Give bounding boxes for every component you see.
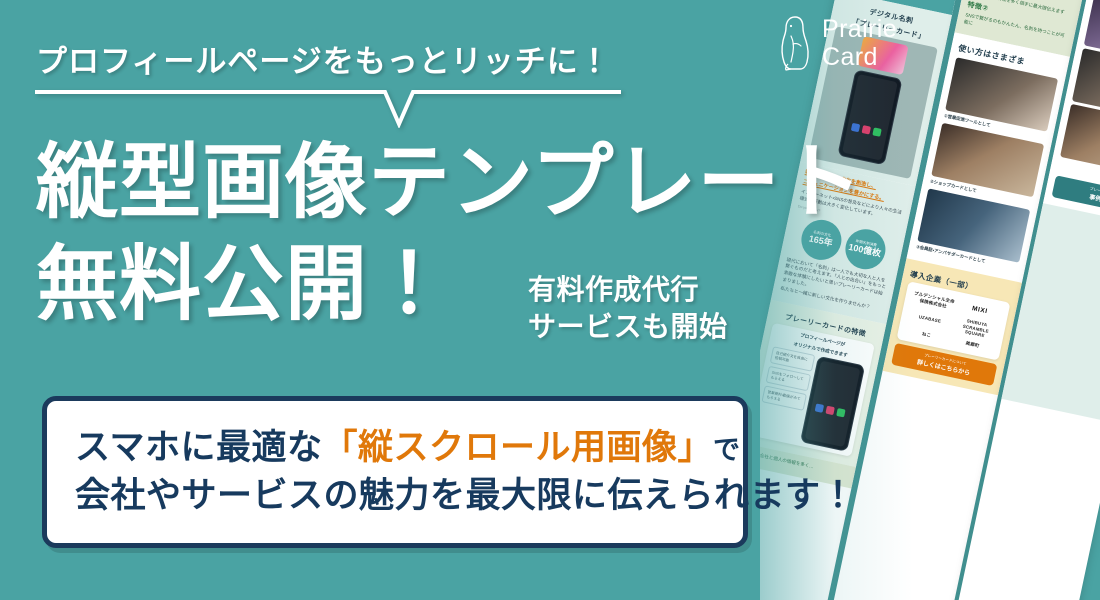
app-icon-3 [872,128,881,137]
hero-headline-line2: 無料公開！ [36,244,451,326]
collage-b-features: 特徴① 会社と個人の情報を多く相手に最大限伝えます 特徴② SNSで繋がるのもか… [954,0,1083,57]
gallery-photo-2 [1084,0,1100,67]
client-logo-0: プルデンシャル生命保険株式会社 [912,291,956,311]
gallery-photo-1 [1096,0,1100,11]
collage-c-cta-small: プレーリーカードの [1057,180,1100,205]
collage-c-cta-wrap: プレーリーカードの 事例を見る [1043,164,1100,228]
brand-name: Prairie Card [822,15,897,71]
collage-c-gallery [1051,0,1100,189]
collage-c-cta-large: 事例を見る [1055,185,1100,214]
callout-line1-prefix: スマホに最適な [75,428,322,467]
collage-b-usage-2: ②ショップカードとして [929,178,1032,205]
usage-photo-1 [945,57,1058,131]
template-card-column-b: SNSをフォローしてもらえる 営業資料・動画がみてもらえる 特徴① 会社と個人の… [825,0,1092,600]
collage-b-clients-card: プルデンシャル生命保険株式会社 MIXI UZABASE SHIBUYA SCR… [896,282,1010,361]
prairie-dog-icon [778,14,812,72]
callout-line-2: 会社やサービスの魅力を最大限に伝えられます！ [75,472,715,520]
client-logo-grid: プルデンシャル生命保険株式会社 MIXI UZABASE SHIBUYA SCR… [902,287,1005,356]
collage-c-cta-button[interactable]: プレーリーカードの 事例を見る [1051,176,1100,219]
client-logo-3: SHIBUYA SCRAMBLE SQUARE [953,316,998,341]
collage-b-feature-1-body: 会社と個人の情報を多く相手に最大限伝えます [969,0,1072,18]
collage-b-usage-1: ①営業促進ツールとして [943,113,1046,140]
callout-line-1: スマホに最適な「縦スクロール用画像」で [75,424,715,472]
client-logo-1: MIXI [971,305,988,316]
usage-photo-3 [917,188,1030,262]
collage-b-cta-button[interactable]: プレーリーカードについて 詳しくはこちらから [891,343,997,386]
hero-content: プロフィールページをもっとリッチに！ 縦型画像テンプレート 無料公開！ 有料作成… [0,0,860,600]
callout-line1-highlight: 「縦スクロール用画像」 [322,428,713,467]
collage-c-filler [1001,203,1100,423]
collage-b-feature-2-body: SNSで繋がるのもかんたん、名刺を持つことが可能に [963,12,1067,47]
collage-b-clients: 導入企業（一部） プルデンシャル生命保険株式会社 MIXI UZABASE SH… [883,258,1022,396]
hero-headline-line1: 縦型画像テンプレート [36,142,864,224]
collage-b-usage-title: 使い方はさまざま [957,44,1061,76]
promo-banner: Card プレーリーカード デジタル名刺 「プレーリーカード」 新しい出会 [0,0,1100,600]
collage-b-usage: 使い方はさまざま ①営業促進ツールとして ②ショップカードとして ③会員証・アン… [907,33,1070,283]
collage-a-brand-sub: プレーリーカード [845,0,948,5]
kicker-underline-pointer [33,86,623,128]
client-logo-5: 美郷町 [965,340,980,348]
client-logo-2: UZABASE [918,314,941,324]
brand-logo: Prairie Card [778,14,897,72]
brand-name-line1: Prairie [822,15,897,43]
hero-subnote: 有料作成代行 サービスも開始 [528,272,728,346]
gallery-photo-3 [1072,48,1100,122]
collage-b-cta-large: 詳しくはこちらから [895,353,993,382]
collage-b-clients-title: 導入企業（一部） [909,269,1013,300]
callout-box: スマホに最適な「縦スクロール用画像」で 会社やサービスの魅力を最大限に伝えられま… [42,396,748,548]
callout-line1-suffix: で [713,435,741,465]
collage-b-cta-small: プレーリーカードについて [897,348,994,373]
client-logo-4: ねこ [921,331,931,338]
brand-name-line2: Card [822,43,897,71]
hero-subnote-line1: 有料作成代行 [528,272,728,309]
collage-b-feature-1-label: 特徴① [971,0,1075,9]
hero-subnote-line2: サービスも開始 [528,309,728,346]
app-icon-2 [861,126,870,135]
collage-b-feature-2-label: 特徴② [967,0,1071,31]
usage-photo-2 [931,122,1044,196]
hero-kicker: プロフィールページをもっとリッチに！ [36,36,611,81]
template-card-column-c: プレーリーカードについて いこう プレーリーカードの 事例を見る [950,0,1100,600]
gallery-photo-4 [1060,104,1100,178]
collage-b-usage-3: ③会員証・アンバサダーカードとして [915,244,1018,271]
